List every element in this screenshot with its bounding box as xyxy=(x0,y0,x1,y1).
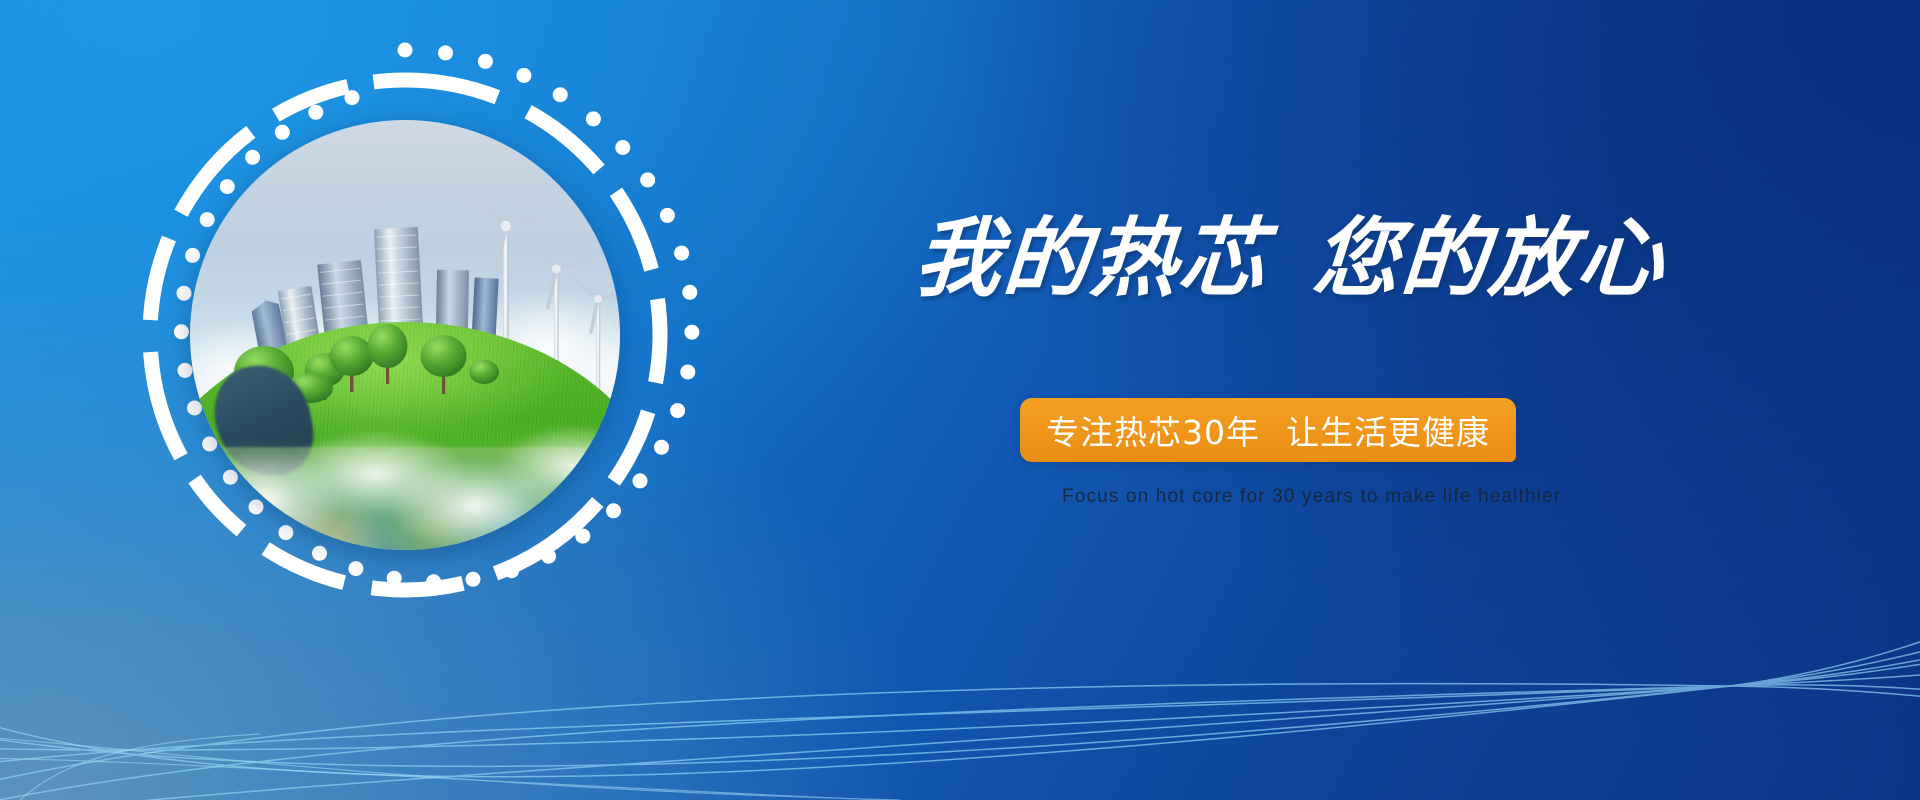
page-title: 我的热芯您的放心 xyxy=(912,214,1668,304)
tree-icon xyxy=(469,360,499,384)
headline-part-1: 我的热芯 xyxy=(912,209,1271,309)
status-badge: 专注热芯30年让生活更健康 xyxy=(1020,398,1516,462)
badge-part-2: 让生活更健康 xyxy=(1286,413,1490,452)
badge-part-1: 专注热芯30年 xyxy=(1046,413,1260,452)
tree-icon xyxy=(421,335,467,394)
subtitle: Focus on hot core for 30 years to make l… xyxy=(1062,486,1561,508)
headline-part-2: 您的放心 xyxy=(1310,209,1669,309)
globe-photo xyxy=(190,120,620,550)
badge-text: 专注热芯30年让生活更健康 xyxy=(1046,406,1490,454)
tree-icon xyxy=(368,324,408,384)
low-clouds xyxy=(190,387,620,550)
hero-banner: 我的热芯您的放心 专注热芯30年让生活更健康 Focus on hot core… xyxy=(0,0,1920,800)
